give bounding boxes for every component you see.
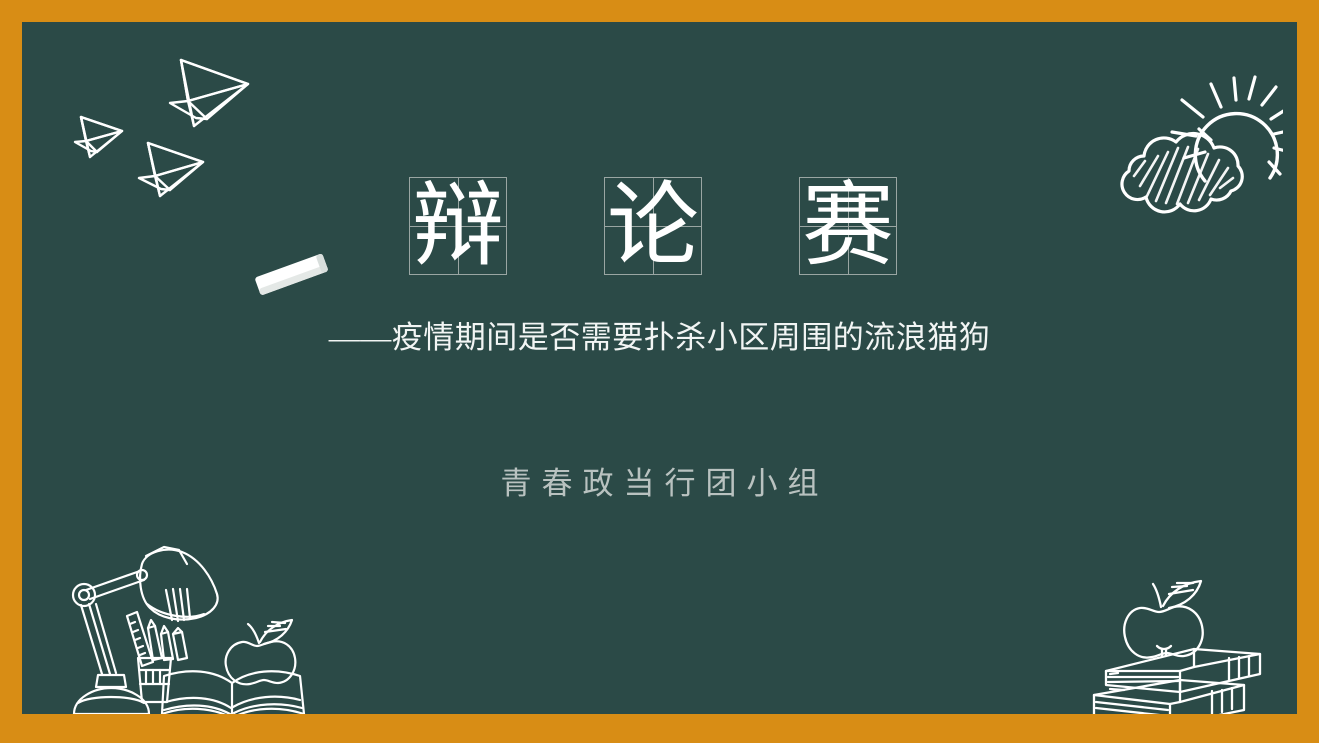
chalk-stick-icon	[244, 238, 339, 308]
desk-lamp-books-icon	[54, 542, 354, 714]
title-character-row: 辩 论 赛	[409, 177, 897, 276]
chalkboard-surface: 辩 论 赛 ——疫情期间是否需要扑杀小区周围的流浪猫狗 青春政当行团小组	[22, 22, 1297, 714]
slide-canvas: 辩 论 赛 ——疫情期间是否需要扑杀小区周围的流浪猫狗 青春政当行团小组	[0, 0, 1319, 743]
title-character-cell-1: 辩	[409, 177, 507, 275]
title-character-1: 辩	[412, 180, 504, 272]
team-name: 青春政当行团小组	[22, 462, 1297, 506]
title-character-cell-2: 论	[604, 177, 702, 275]
book-stack-apple-icon	[1074, 554, 1297, 714]
title-character-2: 论	[607, 180, 699, 272]
sun-cloud-icon	[1098, 44, 1283, 219]
paper-planes-icon	[70, 56, 320, 216]
title-character-3: 赛	[802, 180, 894, 272]
title-character-cell-3: 赛	[799, 177, 897, 275]
slide-subtitle: ——疫情期间是否需要扑杀小区周围的流浪猫狗	[22, 318, 1297, 358]
